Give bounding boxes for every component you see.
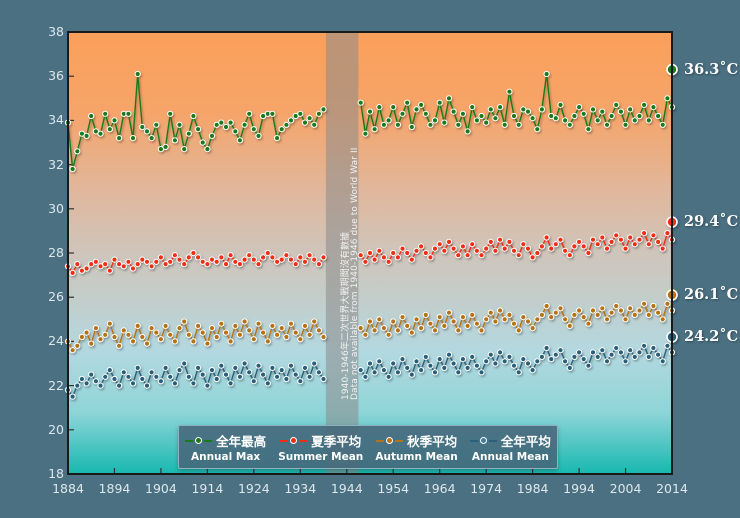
data-point bbox=[521, 357, 526, 362]
data-point bbox=[209, 326, 214, 331]
data-point bbox=[312, 257, 317, 262]
data-point bbox=[479, 253, 484, 258]
data-point bbox=[553, 116, 558, 121]
data-point bbox=[628, 306, 633, 311]
data-point bbox=[549, 315, 554, 320]
legend-marker-icon bbox=[386, 437, 393, 444]
data-point bbox=[265, 381, 270, 386]
data-point bbox=[302, 323, 307, 328]
data-point bbox=[89, 372, 94, 377]
data-point bbox=[563, 359, 568, 364]
data-point bbox=[419, 368, 424, 373]
data-point bbox=[381, 326, 386, 331]
data-point bbox=[112, 376, 117, 381]
legend-item-0[interactable]: 全年最高Annual Max bbox=[183, 431, 268, 463]
data-point bbox=[275, 136, 280, 141]
data-point bbox=[168, 111, 173, 116]
data-point bbox=[577, 239, 582, 244]
data-point bbox=[479, 328, 484, 333]
data-point bbox=[270, 323, 275, 328]
data-point bbox=[409, 257, 414, 262]
data-point bbox=[377, 317, 382, 322]
data-point bbox=[405, 365, 410, 370]
data-point bbox=[251, 379, 256, 384]
data-point bbox=[525, 246, 530, 251]
data-point bbox=[186, 374, 191, 379]
data-point bbox=[567, 253, 572, 258]
data-point bbox=[140, 334, 145, 339]
data-point bbox=[656, 239, 661, 244]
data-point bbox=[474, 248, 479, 253]
data-point bbox=[237, 332, 242, 337]
data-point bbox=[149, 370, 154, 375]
data-point bbox=[219, 321, 224, 326]
data-point bbox=[228, 120, 233, 125]
data-point bbox=[549, 246, 554, 251]
data-point bbox=[628, 107, 633, 112]
data-point bbox=[103, 374, 108, 379]
data-point bbox=[391, 250, 396, 255]
data-point bbox=[154, 122, 159, 127]
data-point bbox=[112, 118, 117, 123]
data-point bbox=[628, 235, 633, 240]
data-point bbox=[558, 348, 563, 353]
data-point bbox=[168, 374, 173, 379]
data-point bbox=[228, 381, 233, 386]
data-point bbox=[261, 372, 266, 377]
data-point bbox=[191, 113, 196, 118]
data-point bbox=[386, 374, 391, 379]
data-point bbox=[511, 321, 516, 326]
data-point bbox=[288, 363, 293, 368]
data-point bbox=[158, 379, 163, 384]
data-point bbox=[70, 270, 75, 275]
data-point bbox=[302, 120, 307, 125]
data-point bbox=[414, 317, 419, 322]
data-point bbox=[642, 301, 647, 306]
data-point bbox=[442, 365, 447, 370]
data-point bbox=[400, 315, 405, 320]
data-point bbox=[646, 242, 651, 247]
legend-label-en: Annual Mean bbox=[472, 451, 549, 463]
data-point bbox=[367, 250, 372, 255]
data-point bbox=[214, 259, 219, 264]
data-point bbox=[98, 383, 103, 388]
data-point bbox=[247, 328, 252, 333]
data-point bbox=[590, 107, 595, 112]
wwii-gap-label-en: Data not available from 1940-1946 due to… bbox=[350, 147, 360, 400]
data-point bbox=[432, 328, 437, 333]
data-point bbox=[154, 330, 159, 335]
data-point bbox=[270, 255, 275, 260]
data-point bbox=[656, 352, 661, 357]
data-point bbox=[298, 379, 303, 384]
data-point bbox=[93, 379, 98, 384]
data-point bbox=[121, 328, 126, 333]
data-point bbox=[437, 357, 442, 362]
data-point bbox=[247, 370, 252, 375]
data-point bbox=[196, 323, 201, 328]
data-point bbox=[456, 328, 461, 333]
data-point bbox=[590, 237, 595, 242]
data-point bbox=[172, 253, 177, 258]
data-point bbox=[135, 262, 140, 267]
data-point bbox=[261, 330, 266, 335]
data-point bbox=[233, 323, 238, 328]
data-point bbox=[168, 332, 173, 337]
legend-symbol-row: 全年平均 bbox=[470, 431, 551, 450]
data-point bbox=[163, 144, 168, 149]
data-point bbox=[158, 255, 163, 260]
data-point bbox=[465, 253, 470, 258]
data-point bbox=[516, 253, 521, 258]
data-point bbox=[637, 350, 642, 355]
data-point bbox=[321, 334, 326, 339]
data-point bbox=[395, 255, 400, 260]
data-point bbox=[168, 259, 173, 264]
data-point bbox=[135, 71, 140, 76]
data-point bbox=[442, 248, 447, 253]
legend-item-2[interactable]: 秋季平均Autumn Mean bbox=[373, 431, 459, 463]
data-point bbox=[89, 113, 94, 118]
data-point bbox=[377, 359, 382, 364]
data-point bbox=[423, 250, 428, 255]
data-point bbox=[284, 334, 289, 339]
data-point bbox=[381, 255, 386, 260]
data-point bbox=[400, 246, 405, 251]
data-point bbox=[140, 376, 145, 381]
data-point bbox=[98, 131, 103, 136]
data-point bbox=[367, 319, 372, 324]
data-point bbox=[553, 352, 558, 357]
data-point bbox=[293, 372, 298, 377]
data-point bbox=[516, 328, 521, 333]
legend-label-cn: 全年最高 bbox=[216, 431, 266, 450]
data-point bbox=[567, 122, 572, 127]
data-point bbox=[618, 308, 623, 313]
data-point bbox=[646, 118, 651, 123]
data-point bbox=[293, 330, 298, 335]
data-point bbox=[572, 354, 577, 359]
data-point bbox=[126, 332, 131, 337]
data-point bbox=[251, 337, 256, 342]
data-point bbox=[177, 257, 182, 262]
data-point bbox=[121, 264, 126, 269]
data-point bbox=[660, 122, 665, 127]
data-point bbox=[75, 262, 80, 267]
data-point bbox=[107, 268, 112, 273]
data-point bbox=[307, 116, 312, 121]
data-point bbox=[103, 111, 108, 116]
legend-marker-icon bbox=[290, 437, 297, 444]
data-point bbox=[642, 343, 647, 348]
data-point bbox=[117, 343, 122, 348]
data-point bbox=[177, 326, 182, 331]
data-point bbox=[614, 303, 619, 308]
data-point bbox=[144, 341, 149, 346]
end-value-label: 24.2˚C bbox=[684, 328, 738, 345]
data-point bbox=[511, 113, 516, 118]
data-point bbox=[377, 248, 382, 253]
data-point bbox=[391, 361, 396, 366]
data-point bbox=[154, 259, 159, 264]
data-point bbox=[98, 337, 103, 342]
data-point bbox=[363, 259, 368, 264]
data-point bbox=[209, 368, 214, 373]
data-point bbox=[191, 381, 196, 386]
data-point bbox=[107, 368, 112, 373]
data-point bbox=[446, 310, 451, 315]
data-point bbox=[316, 370, 321, 375]
data-point bbox=[493, 116, 498, 121]
data-point bbox=[521, 242, 526, 247]
data-point bbox=[284, 376, 289, 381]
data-point bbox=[395, 122, 400, 127]
data-point bbox=[186, 131, 191, 136]
data-point bbox=[516, 370, 521, 375]
data-point bbox=[586, 321, 591, 326]
legend-line-icon bbox=[376, 440, 384, 442]
data-point bbox=[391, 105, 396, 110]
data-point bbox=[484, 359, 489, 364]
data-point bbox=[279, 257, 284, 262]
data-point bbox=[581, 111, 586, 116]
data-point bbox=[395, 370, 400, 375]
data-point bbox=[196, 255, 201, 260]
data-point bbox=[595, 118, 600, 123]
data-point bbox=[214, 376, 219, 381]
data-point bbox=[581, 357, 586, 362]
legend-label-en: Summer Mean bbox=[278, 451, 363, 463]
data-point bbox=[479, 113, 484, 118]
temperature-chart: 氣溫 Temperature / (°C) 383634323028262422… bbox=[0, 0, 740, 518]
data-point bbox=[117, 136, 122, 141]
data-point bbox=[637, 113, 642, 118]
wwii-gap-label-cn: 1940-1946年二次世界大戰期間沒有數據 bbox=[338, 232, 351, 400]
data-point bbox=[219, 120, 224, 125]
data-point bbox=[474, 321, 479, 326]
data-point bbox=[126, 111, 131, 116]
data-point bbox=[223, 124, 228, 129]
data-point bbox=[237, 262, 242, 267]
data-point bbox=[642, 231, 647, 236]
data-point bbox=[84, 381, 89, 386]
data-point bbox=[409, 330, 414, 335]
data-point bbox=[507, 89, 512, 94]
data-point bbox=[316, 328, 321, 333]
data-point bbox=[451, 319, 456, 324]
data-point bbox=[140, 124, 145, 129]
data-point bbox=[386, 332, 391, 337]
data-point bbox=[539, 107, 544, 112]
data-point bbox=[149, 136, 154, 141]
data-point bbox=[563, 248, 568, 253]
data-point bbox=[205, 383, 210, 388]
data-point bbox=[632, 312, 637, 317]
data-point bbox=[442, 323, 447, 328]
data-point bbox=[209, 133, 214, 138]
data-point bbox=[614, 345, 619, 350]
data-point bbox=[386, 259, 391, 264]
data-point bbox=[642, 102, 647, 107]
data-point bbox=[103, 262, 108, 267]
data-point bbox=[465, 365, 470, 370]
data-point bbox=[581, 315, 586, 320]
legend-line-icon bbox=[299, 440, 307, 442]
data-point bbox=[660, 359, 665, 364]
data-point bbox=[590, 308, 595, 313]
data-point bbox=[600, 348, 605, 353]
data-point bbox=[251, 127, 256, 132]
data-point bbox=[651, 345, 656, 350]
data-point bbox=[247, 253, 252, 258]
data-point bbox=[130, 136, 135, 141]
data-point bbox=[126, 374, 131, 379]
data-point bbox=[381, 122, 386, 127]
data-point bbox=[609, 239, 614, 244]
data-point bbox=[432, 370, 437, 375]
legend-marker-icon bbox=[195, 437, 202, 444]
data-point bbox=[623, 122, 628, 127]
data-point bbox=[609, 310, 614, 315]
data-point bbox=[395, 328, 400, 333]
data-point bbox=[107, 127, 112, 132]
data-point bbox=[470, 105, 475, 110]
data-point bbox=[474, 363, 479, 368]
data-point bbox=[144, 259, 149, 264]
data-point bbox=[511, 248, 516, 253]
data-point bbox=[196, 365, 201, 370]
data-point bbox=[261, 255, 266, 260]
data-point bbox=[372, 328, 377, 333]
data-point bbox=[112, 334, 117, 339]
data-point bbox=[256, 262, 261, 267]
data-point bbox=[321, 107, 326, 112]
data-point bbox=[135, 365, 140, 370]
data-point bbox=[604, 122, 609, 127]
legend-marker-icon bbox=[480, 437, 487, 444]
legend-label-cn: 夏季平均 bbox=[311, 431, 361, 450]
data-point bbox=[502, 122, 507, 127]
data-point bbox=[75, 383, 80, 388]
data-point bbox=[219, 255, 224, 260]
data-point bbox=[665, 343, 670, 348]
legend-symbol-row: 秋季平均 bbox=[376, 431, 457, 450]
data-point bbox=[651, 105, 656, 110]
data-point bbox=[595, 242, 600, 247]
data-point bbox=[437, 315, 442, 320]
data-point bbox=[488, 239, 493, 244]
data-point bbox=[544, 345, 549, 350]
data-point bbox=[205, 341, 210, 346]
data-point bbox=[525, 109, 530, 114]
data-point bbox=[539, 244, 544, 249]
data-point bbox=[200, 330, 205, 335]
data-point bbox=[400, 111, 405, 116]
data-point bbox=[219, 363, 224, 368]
data-point bbox=[516, 122, 521, 127]
data-point bbox=[298, 111, 303, 116]
data-point bbox=[275, 332, 280, 337]
data-point bbox=[135, 323, 140, 328]
legend-item-1[interactable]: 夏季平均Summer Mean bbox=[276, 431, 365, 463]
data-point bbox=[558, 237, 563, 242]
data-point bbox=[182, 147, 187, 152]
data-point bbox=[265, 250, 270, 255]
data-point bbox=[600, 306, 605, 311]
data-point bbox=[409, 124, 414, 129]
data-point bbox=[130, 339, 135, 344]
data-point bbox=[623, 317, 628, 322]
data-point bbox=[446, 96, 451, 101]
data-point bbox=[498, 308, 503, 313]
data-point bbox=[223, 262, 228, 267]
data-point bbox=[525, 361, 530, 366]
data-point bbox=[451, 361, 456, 366]
data-point bbox=[302, 259, 307, 264]
data-point bbox=[149, 264, 154, 269]
data-point bbox=[256, 321, 261, 326]
data-point bbox=[595, 354, 600, 359]
data-point bbox=[223, 372, 228, 377]
data-point bbox=[618, 237, 623, 242]
data-point bbox=[288, 257, 293, 262]
data-point bbox=[432, 118, 437, 123]
data-point bbox=[363, 332, 368, 337]
data-point bbox=[172, 339, 177, 344]
data-point bbox=[567, 323, 572, 328]
data-point bbox=[651, 303, 656, 308]
data-point bbox=[79, 376, 84, 381]
data-point bbox=[651, 233, 656, 238]
data-point bbox=[284, 122, 289, 127]
data-point bbox=[484, 246, 489, 251]
legend-symbol-row: 夏季平均 bbox=[280, 431, 361, 450]
data-point bbox=[451, 246, 456, 251]
data-point bbox=[312, 361, 317, 366]
data-point bbox=[428, 255, 433, 260]
data-point bbox=[242, 319, 247, 324]
data-point bbox=[567, 365, 572, 370]
data-point bbox=[117, 383, 122, 388]
data-point bbox=[535, 359, 540, 364]
data-point bbox=[270, 111, 275, 116]
data-point bbox=[372, 127, 377, 132]
legend-item-3[interactable]: 全年平均Annual Mean bbox=[468, 431, 553, 463]
data-point bbox=[446, 239, 451, 244]
data-point bbox=[460, 111, 465, 116]
data-point bbox=[609, 113, 614, 118]
data-point bbox=[656, 310, 661, 315]
legend-label-cn: 秋季平均 bbox=[407, 431, 457, 450]
data-point bbox=[233, 365, 238, 370]
data-point bbox=[572, 244, 577, 249]
data-point bbox=[665, 231, 670, 236]
data-point bbox=[502, 246, 507, 251]
data-point bbox=[214, 334, 219, 339]
data-point bbox=[284, 253, 289, 258]
chart-legend[interactable]: 全年最高Annual Max夏季平均Summer Mean秋季平均Autumn … bbox=[178, 425, 558, 469]
data-point bbox=[442, 120, 447, 125]
data-point bbox=[265, 339, 270, 344]
data-point bbox=[511, 363, 516, 368]
data-point bbox=[144, 383, 149, 388]
legend-line-icon bbox=[204, 440, 212, 442]
data-point bbox=[530, 326, 535, 331]
data-point bbox=[470, 242, 475, 247]
legend-line-icon bbox=[395, 440, 403, 442]
data-point bbox=[377, 105, 382, 110]
